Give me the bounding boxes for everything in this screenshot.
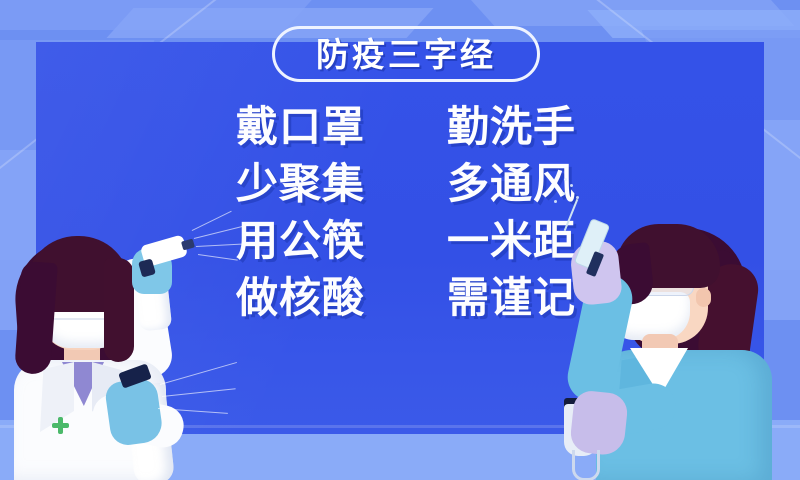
slogan-row: 用公筷 一米距 (236, 212, 576, 269)
slogan-left-4: 做核酸 (236, 277, 365, 319)
slogan-row: 少聚集 多通风 (236, 155, 576, 212)
green-cross-badge-icon (52, 417, 69, 434)
slogan-left-3: 用公筷 (236, 220, 365, 262)
slogan-left-1: 戴口罩 (236, 106, 365, 148)
mist-line (196, 243, 246, 247)
mist-line (198, 254, 238, 261)
droplet (554, 200, 557, 203)
glove-lower (104, 377, 164, 448)
hair-side-right (104, 258, 134, 362)
droplet (562, 192, 565, 195)
slogan-right-1: 勤洗手 (447, 106, 576, 148)
droplet (564, 178, 567, 181)
page-title: 防疫三字经 (316, 38, 496, 71)
slogan-left-2: 少聚集 (236, 163, 365, 205)
hook-shape (572, 450, 600, 480)
slogan-right-2: 多通风 (447, 163, 576, 205)
mist-line (160, 362, 237, 385)
droplet (576, 196, 579, 199)
slogan-row: 戴口罩 勤洗手 (236, 98, 576, 155)
prevention-poster: 防疫三字经 戴口罩 勤洗手 少聚集 多通风 用公筷 一米距 做核酸 需谨记 (0, 0, 800, 480)
doctor-illustration (0, 232, 250, 480)
nurse-illustration (550, 222, 800, 480)
spray-nozzle (181, 239, 195, 251)
droplet (570, 184, 573, 187)
title-badge: 防疫三字经 (272, 26, 540, 82)
ear (696, 288, 711, 307)
slogan-block: 戴口罩 勤洗手 少聚集 多通风 用公筷 一米距 做核酸 需谨记 (236, 98, 576, 326)
slogan-row: 做核酸 需谨记 (236, 269, 576, 326)
mist-line (162, 388, 236, 397)
